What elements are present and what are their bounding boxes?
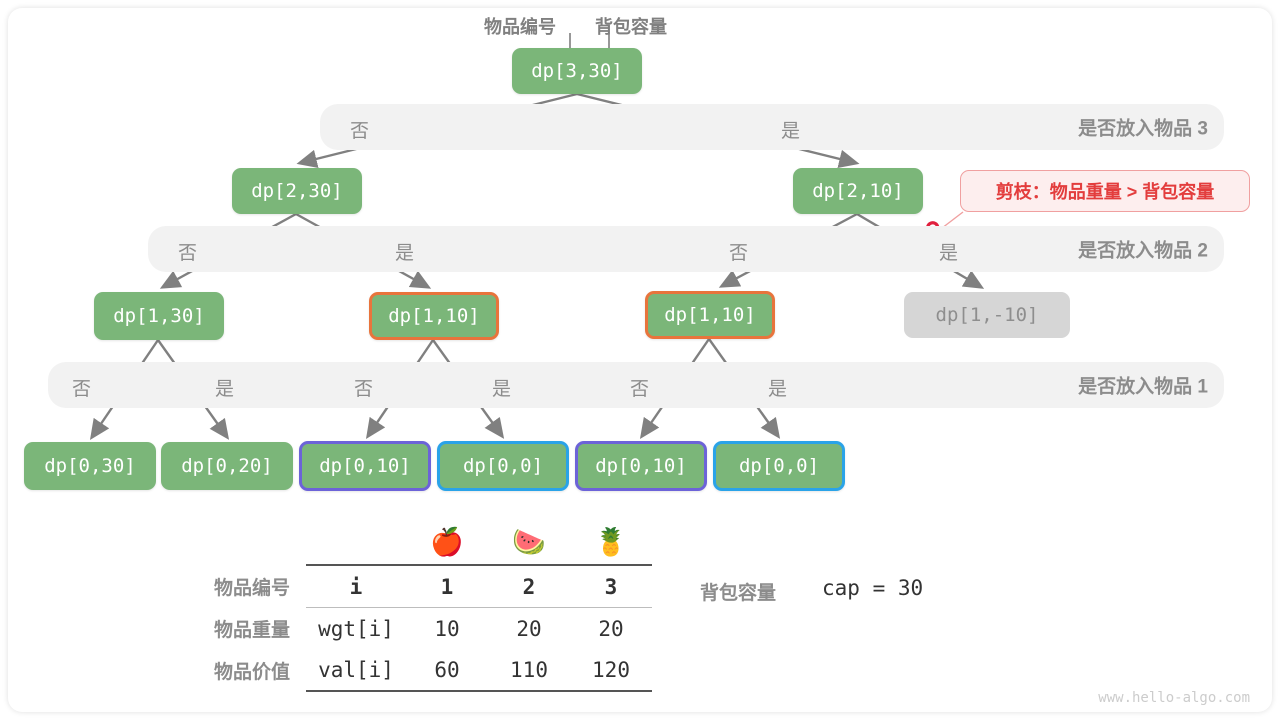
cell-wgt-3: 20 [570, 608, 652, 650]
band-1-choice-yes-1: 是 [215, 374, 234, 401]
prune-callout: 剪枝：物品重量 > 背包容量 [960, 170, 1250, 212]
band-3-choice-no: 否 [350, 116, 369, 143]
node-dp-0-30[interactable]: dp[0,30] [24, 442, 156, 490]
row-key-wgt: wgt[i] [306, 608, 406, 650]
node-dp-1-neg10: dp[1,-10] [904, 292, 1070, 338]
cell-wgt-2: 20 [488, 608, 570, 650]
node-dp-0-10-b[interactable]: dp[0,10] [575, 441, 707, 491]
label-item-index: 物品编号 [484, 13, 556, 39]
table-row-item-value: 物品价值 val[i] 60 110 120 [160, 649, 652, 691]
cell-val-2: 110 [488, 649, 570, 691]
cell-i-3: 3 [570, 565, 652, 608]
pineapple-icon: 🍍 [570, 520, 652, 565]
band-3-choice-yes: 是 [781, 116, 800, 143]
band-2-choice-yes-2: 是 [939, 238, 958, 265]
capacity-value: cap = 30 [822, 576, 923, 600]
node-dp-2-30[interactable]: dp[2,30] [232, 168, 362, 214]
icon-key-spacer [306, 520, 406, 565]
row-label-item-weight: 物品重量 [160, 608, 306, 650]
band-1-title: 是否放入物品 1 [1078, 372, 1208, 399]
row-key-i: i [306, 565, 406, 608]
decision-band-item-2: 是否放入物品 2 [148, 226, 1224, 272]
decision-band-item-3: 是否放入物品 3 [320, 104, 1224, 150]
diagram-canvas: 物品编号 背包容量 是否放入物品 3 否 是 是否放入物品 2 否 是 否 是 … [0, 0, 1280, 720]
row-label-item-value: 物品价值 [160, 649, 306, 691]
band-2-title: 是否放入物品 2 [1078, 236, 1208, 263]
band-1-choice-no-1: 否 [72, 374, 91, 401]
node-dp-1-10-b[interactable]: dp[1,10] [645, 291, 775, 339]
cell-i-1: 1 [406, 565, 488, 608]
item-table: 🍎 🍉 🍍 物品编号 i 1 2 3 物品重量 wgt[i] 10 20 20 … [160, 520, 652, 720]
node-dp-0-20[interactable]: dp[0,20] [161, 442, 293, 490]
band-2-choice-no-2: 否 [729, 238, 748, 265]
table-bottom-rule [160, 691, 652, 720]
apple-icon: 🍎 [406, 520, 488, 565]
band-2-choice-no-1: 否 [178, 238, 197, 265]
site-watermark: www.hello-algo.com [1098, 690, 1250, 706]
table-row-item-index: 物品编号 i 1 2 3 [160, 565, 652, 608]
icon-row-spacer [160, 520, 306, 565]
cell-i-2: 2 [488, 565, 570, 608]
watermelon-icon: 🍉 [488, 520, 570, 565]
node-dp-1-10-a[interactable]: dp[1,10] [369, 292, 499, 340]
node-dp-3-30[interactable]: dp[3,30] [512, 48, 642, 94]
cell-val-1: 60 [406, 649, 488, 691]
cell-val-3: 120 [570, 649, 652, 691]
node-dp-1-30[interactable]: dp[1,30] [94, 292, 224, 340]
band-3-title: 是否放入物品 3 [1078, 114, 1208, 141]
band-1-choice-yes-2: 是 [492, 374, 511, 401]
band-1-choice-yes-3: 是 [768, 374, 787, 401]
band-1-choice-no-3: 否 [630, 374, 649, 401]
cell-wgt-1: 10 [406, 608, 488, 650]
row-label-item-index: 物品编号 [160, 565, 306, 608]
row-key-val: val[i] [306, 649, 406, 691]
table-icon-row: 🍎 🍉 🍍 [160, 520, 652, 565]
node-dp-0-0-a[interactable]: dp[0,0] [437, 441, 569, 491]
node-dp-0-0-b[interactable]: dp[0,0] [713, 441, 845, 491]
node-dp-2-10[interactable]: dp[2,10] [793, 168, 923, 214]
capacity-label: 背包容量 [700, 578, 776, 605]
table-row-item-weight: 物品重量 wgt[i] 10 20 20 [160, 608, 652, 650]
band-2-choice-yes-1: 是 [395, 238, 414, 265]
label-knapsack-capacity: 背包容量 [595, 13, 667, 39]
node-dp-0-10-a[interactable]: dp[0,10] [299, 441, 431, 491]
band-1-choice-no-2: 否 [354, 374, 373, 401]
